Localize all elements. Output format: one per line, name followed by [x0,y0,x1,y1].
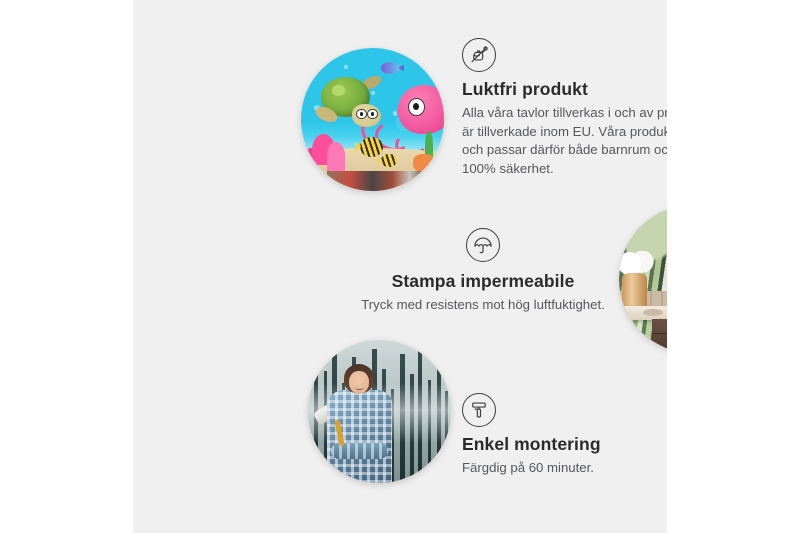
feature-icon-wrap [462,38,667,72]
soap-dish [643,309,664,316]
screenshot-root: Luktfri produkt Alla våra tavlor tillver… [0,0,800,533]
feature-block-easy-install: Enkel montering Färgdig på 60 minuter. [462,393,667,478]
seabed-strip [327,171,421,191]
starfish-icon [413,154,436,173]
feature-icon-wrap [462,393,667,427]
feature-body: Färgdig på 60 minuter. [462,459,667,478]
forest-scene-art [308,340,451,483]
yellow-fish-icon [381,154,397,167]
bathroom-scene-art [619,205,667,353]
underwater-cartoon-photo[interactable] [301,48,444,191]
wood-vanity [652,319,667,353]
feature-title: Enkel montering [462,434,667,455]
no-smell-icon [462,38,496,72]
paint-roller-icon [462,393,496,427]
drawer-handle [666,339,667,341]
bubble-icon [393,111,398,116]
blue-fish-icon [381,62,400,73]
feature-title: Stampa impermeabile [338,271,628,292]
feature-title: Luktfri produkt [462,79,667,100]
feature-icon-wrap [338,228,628,262]
umbrella-icon [466,228,500,262]
content-panel: Luktfri produkt Alla våra tavlor tillver… [133,0,667,533]
feature-block-waterproof: Stampa impermeabile Tryck med resistens … [338,228,628,315]
bathroom-interior-photo[interactable] [619,205,667,353]
feature-body: Alla våra tavlor tillverkas i och av pro… [462,104,667,179]
yellow-fish-icon [360,137,383,157]
underwater-scene-art [301,48,444,191]
feature-body: Tryck med resistens mot hög luftfuktighe… [338,296,628,315]
turtle-head [352,104,381,127]
bubble-icon [344,65,348,69]
woman-forest-photo[interactable] [308,340,451,483]
woman-torso [327,390,393,483]
coral-icon [327,142,346,171]
feature-block-odourless: Luktfri produkt Alla våra tavlor tillver… [462,38,667,179]
bubble-icon [371,91,375,95]
